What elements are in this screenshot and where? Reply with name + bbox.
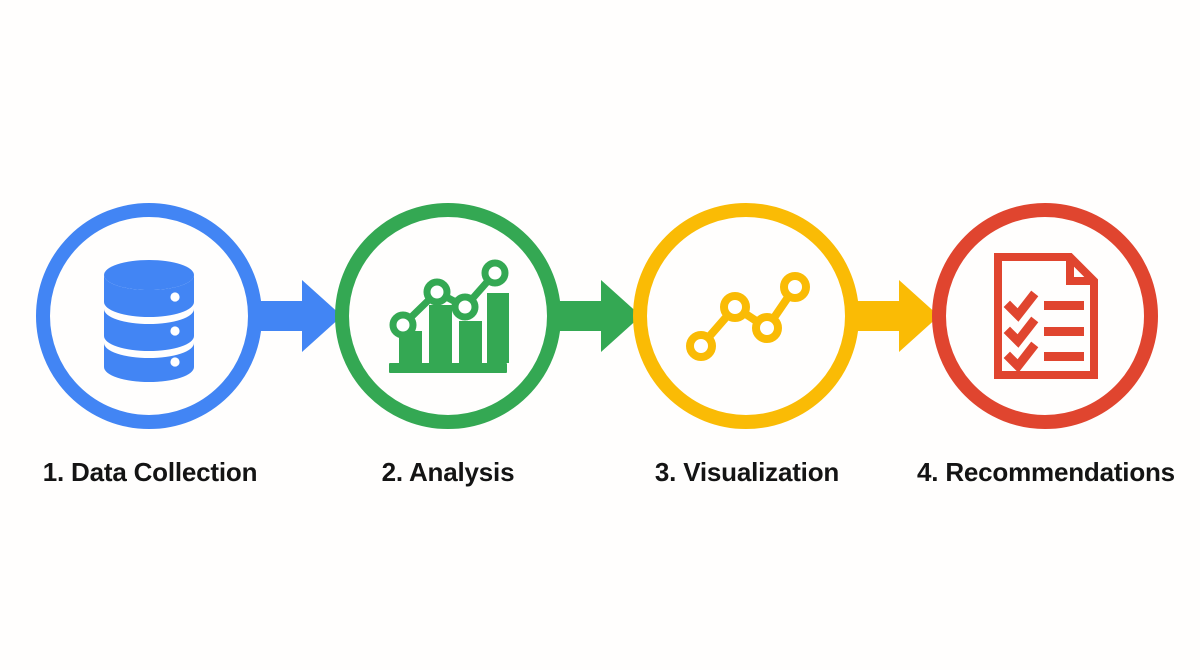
bar-chart-line-icon <box>377 245 519 387</box>
stage-3-visualization[interactable] <box>633 203 859 429</box>
stage-4-label: 4. Recommendations <box>892 455 1200 489</box>
flow-row <box>0 0 1200 670</box>
database-icon <box>78 245 220 387</box>
stage-2-label: 2. Analysis <box>298 455 598 489</box>
stage-3-label: 3. Visualization <box>597 455 897 489</box>
stage-4-recommendations[interactable] <box>932 203 1158 429</box>
checklist-document-icon <box>974 245 1116 387</box>
checkmarks <box>1010 297 1032 366</box>
database-indicator-dot <box>170 357 179 366</box>
stage-1-data-collection[interactable] <box>36 203 262 429</box>
arrow-2-to-3-icon <box>549 274 641 358</box>
arrow-1-to-2-icon <box>250 274 342 358</box>
list-lines <box>1044 301 1084 361</box>
line-chart-icon <box>675 245 817 387</box>
stage-2-analysis[interactable] <box>335 203 561 429</box>
database-indicator-dot <box>170 326 179 335</box>
process-flow-diagram: 1. Data Collection 2. Analysis 3. Visual… <box>0 0 1200 670</box>
stage-1-label: 1. Data Collection <box>0 455 300 489</box>
arrow-3-to-4-icon <box>847 274 939 358</box>
database-indicator-dot <box>170 292 179 301</box>
stage-label-row: 1. Data Collection 2. Analysis 3. Visual… <box>0 455 1200 501</box>
chart-line <box>701 287 795 346</box>
